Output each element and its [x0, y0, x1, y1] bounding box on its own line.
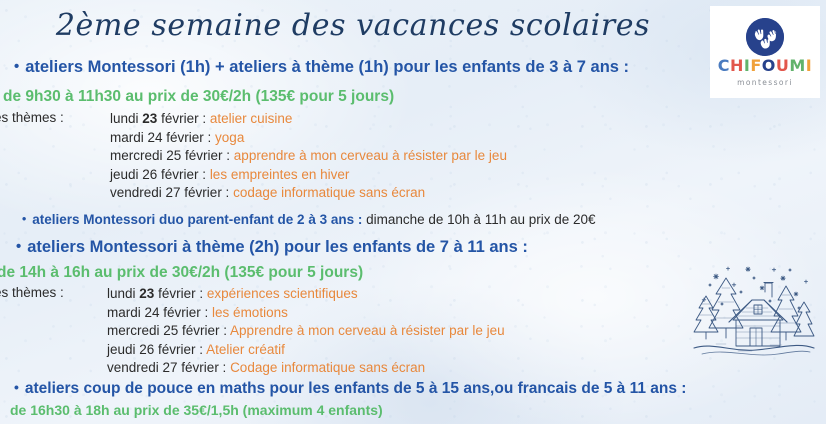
- theme-row: mardi 24 février : yoga: [110, 129, 507, 148]
- themes-label-2: les thèmes :: [0, 285, 64, 300]
- theme-row: mardi 24 février : les émotions: [107, 304, 505, 323]
- section-schedule-montessori-3-7: de 9h30 à 11h30 au prix de 30€/2h (135€ …: [3, 88, 394, 106]
- page-title: 2ème semaine des vacances scolaires: [0, 8, 826, 43]
- theme-row: mercredi 25 février : apprendre à mon ce…: [110, 147, 507, 166]
- theme-topic: yoga: [215, 130, 244, 145]
- theme-row: jeudi 26 février : Atelier créatif: [107, 341, 505, 360]
- theme-topic: codage informatique sans écran: [233, 185, 425, 200]
- hands-in-circle-icon: [746, 18, 784, 56]
- themes-list-2: lundi 23 février : expériences scientifi…: [107, 285, 505, 378]
- bullet-icon: •: [16, 239, 21, 255]
- theme-topic: les empreintes en hiver: [210, 167, 350, 182]
- winter-cabin-illustration: [686, 258, 820, 366]
- section-heading-duo-parent-enfant: •ateliers Montessori duo parent-enfant d…: [22, 212, 596, 227]
- theme-row: jeudi 26 février : les empreintes en hiv…: [110, 166, 507, 185]
- duo-schedule-text: dimanche de 10h à 11h au prix de 20€: [366, 212, 595, 227]
- theme-row: mercredi 25 février : Apprendre à mon ce…: [107, 322, 505, 341]
- heading-text: ateliers Montessori (1h) + ateliers à th…: [25, 58, 629, 76]
- poster-canvas: 2ème semaine des vacances scolaires CHIF…: [0, 0, 826, 424]
- theme-day-bold: 23: [139, 286, 154, 301]
- theme-topic: expériences scientifiques: [207, 286, 358, 301]
- theme-day-bold: 23: [142, 111, 157, 126]
- heading-text: ateliers coup de pouce en maths pour les…: [25, 380, 687, 397]
- theme-topic: Codage informatique sans écran: [230, 360, 425, 375]
- section-schedule-montessori-7-11: de 14h à 16h au prix de 30€/2h (135€ pou…: [0, 264, 363, 282]
- theme-topic: atelier cuisine: [210, 111, 293, 126]
- theme-row: lundi 23 février : expériences scientifi…: [107, 285, 505, 304]
- bullet-icon: •: [14, 379, 19, 395]
- bullet-icon: •: [14, 59, 19, 75]
- section-heading-coup-de-pouce: •ateliers coup de pouce en maths pour le…: [14, 379, 686, 398]
- theme-topic: apprendre à mon cerveau à résister par l…: [234, 148, 507, 163]
- theme-row: vendredi 27 février : Codage informatiqu…: [107, 359, 505, 378]
- section-heading-montessori-7-11: •ateliers Montessori à thème (2h) pour l…: [16, 238, 528, 257]
- section-heading-montessori-3-7: •ateliers Montessori (1h) + ateliers à t…: [14, 58, 629, 77]
- logo-wordmark: CHIFOUMI: [718, 58, 813, 74]
- theme-row: lundi 23 février : atelier cuisine: [110, 110, 507, 129]
- theme-topic: Atelier créatif: [206, 342, 285, 357]
- section-schedule-coup-de-pouce: de 16h30 à 18h au prix de 35€/1,5h (maxi…: [10, 402, 383, 418]
- themes-list-1: lundi 23 février : atelier cuisine mardi…: [110, 110, 507, 203]
- themes-label-1: les thèmes :: [0, 110, 64, 125]
- logo-tagline: montessori: [737, 78, 793, 87]
- brand-logo: CHIFOUMI montessori: [710, 6, 820, 98]
- heading-text: ateliers Montessori à thème (2h) pour le…: [27, 238, 528, 256]
- theme-topic: Apprendre à mon cerveau à résister par l…: [230, 323, 505, 338]
- heading-text: ateliers Montessori duo parent-enfant de…: [32, 212, 366, 227]
- bullet-icon: •: [22, 212, 26, 226]
- theme-row: vendredi 27 février : codage informatiqu…: [110, 184, 507, 203]
- theme-topic: les émotions: [212, 305, 288, 320]
